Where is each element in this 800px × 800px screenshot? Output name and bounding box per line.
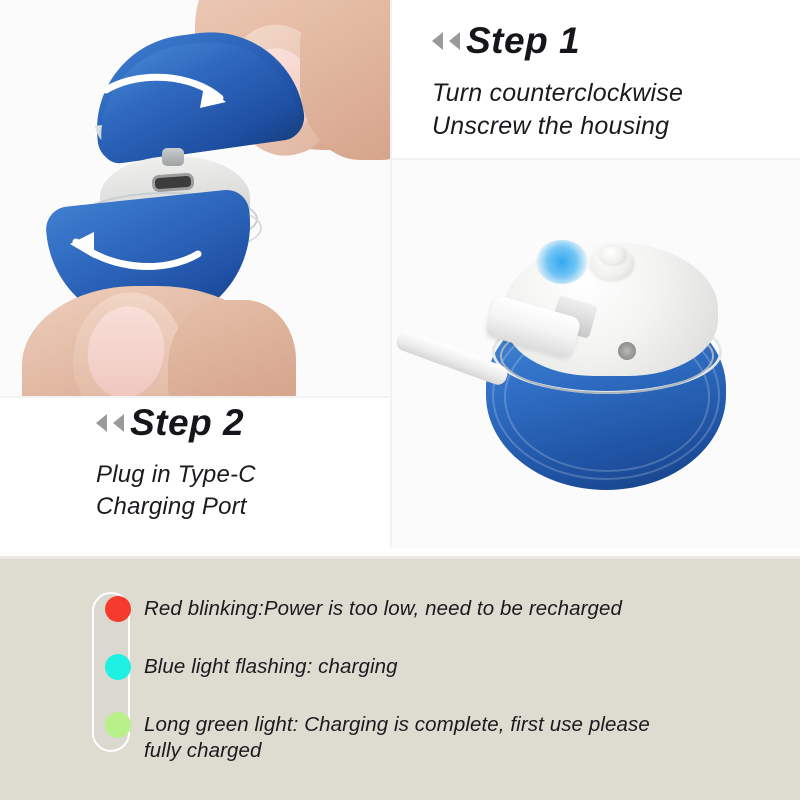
step-1-body: Turn counterclockwise Unscrew the housin… <box>432 77 800 144</box>
core-neck <box>162 148 184 166</box>
cyan-status-dot <box>105 654 131 680</box>
legend-top-edge <box>0 556 800 559</box>
vertical-seam <box>390 0 392 548</box>
legend-row-text: Red blinking:Power is too low, need to b… <box>144 592 622 622</box>
double-left-triangle-icon <box>432 32 443 50</box>
power-button-top <box>600 246 626 264</box>
step-2-title: Step 2 <box>130 404 244 441</box>
horizontal-seam-right <box>392 158 800 160</box>
green-status-dot <box>105 712 131 738</box>
legend-row: Red blinking:Power is too low, need to b… <box>92 592 752 642</box>
legend-row-list: Red blinking:Power is too low, need to b… <box>92 592 752 763</box>
legend-rows: Red blinking:Power is too low, need to b… <box>92 592 752 771</box>
double-left-triangle-icon <box>113 414 124 432</box>
led-blue-glow <box>536 240 588 284</box>
step-2-heading: Step 2 <box>96 404 390 441</box>
legend-row-text: Blue light flashing: charging <box>144 650 398 680</box>
status-legend-panel: Red blinking:Power is too low, need to b… <box>0 556 800 800</box>
double-left-triangle-icon <box>96 414 107 432</box>
arrow-clockwise-top <box>100 68 240 120</box>
infographic-page: Step 1 Turn counterclockwise Unscrew the… <box>0 0 800 800</box>
photo-charging <box>392 160 800 548</box>
step-1-title: Step 1 <box>466 22 580 59</box>
double-left-triangle-icon <box>449 32 460 50</box>
red-status-dot <box>105 596 131 622</box>
legend-row: Blue light flashing: charging <box>92 650 752 700</box>
housing-screw <box>618 342 636 360</box>
panel-step-2: Step 2 Plug in Type-C Charging Port <box>0 398 390 548</box>
step-2-body: Plug in Type-C Charging Port <box>96 459 390 523</box>
type-c-port <box>151 173 194 193</box>
photo-open-housing <box>0 0 390 396</box>
lower-fingers <box>168 300 296 396</box>
dot-cell <box>92 650 144 680</box>
legend-row: Long green light: Charging is complete, … <box>92 708 752 763</box>
dot-cell <box>92 592 144 622</box>
step-1-heading: Step 1 <box>432 22 800 59</box>
panel-step-1: Step 1 Turn counterclockwise Unscrew the… <box>392 0 800 158</box>
legend-row-text: Long green light: Charging is complete, … <box>144 708 650 763</box>
horizontal-seam-left <box>0 396 390 398</box>
arrow-counterclockwise-bottom <box>58 228 208 284</box>
dot-cell <box>92 708 144 738</box>
